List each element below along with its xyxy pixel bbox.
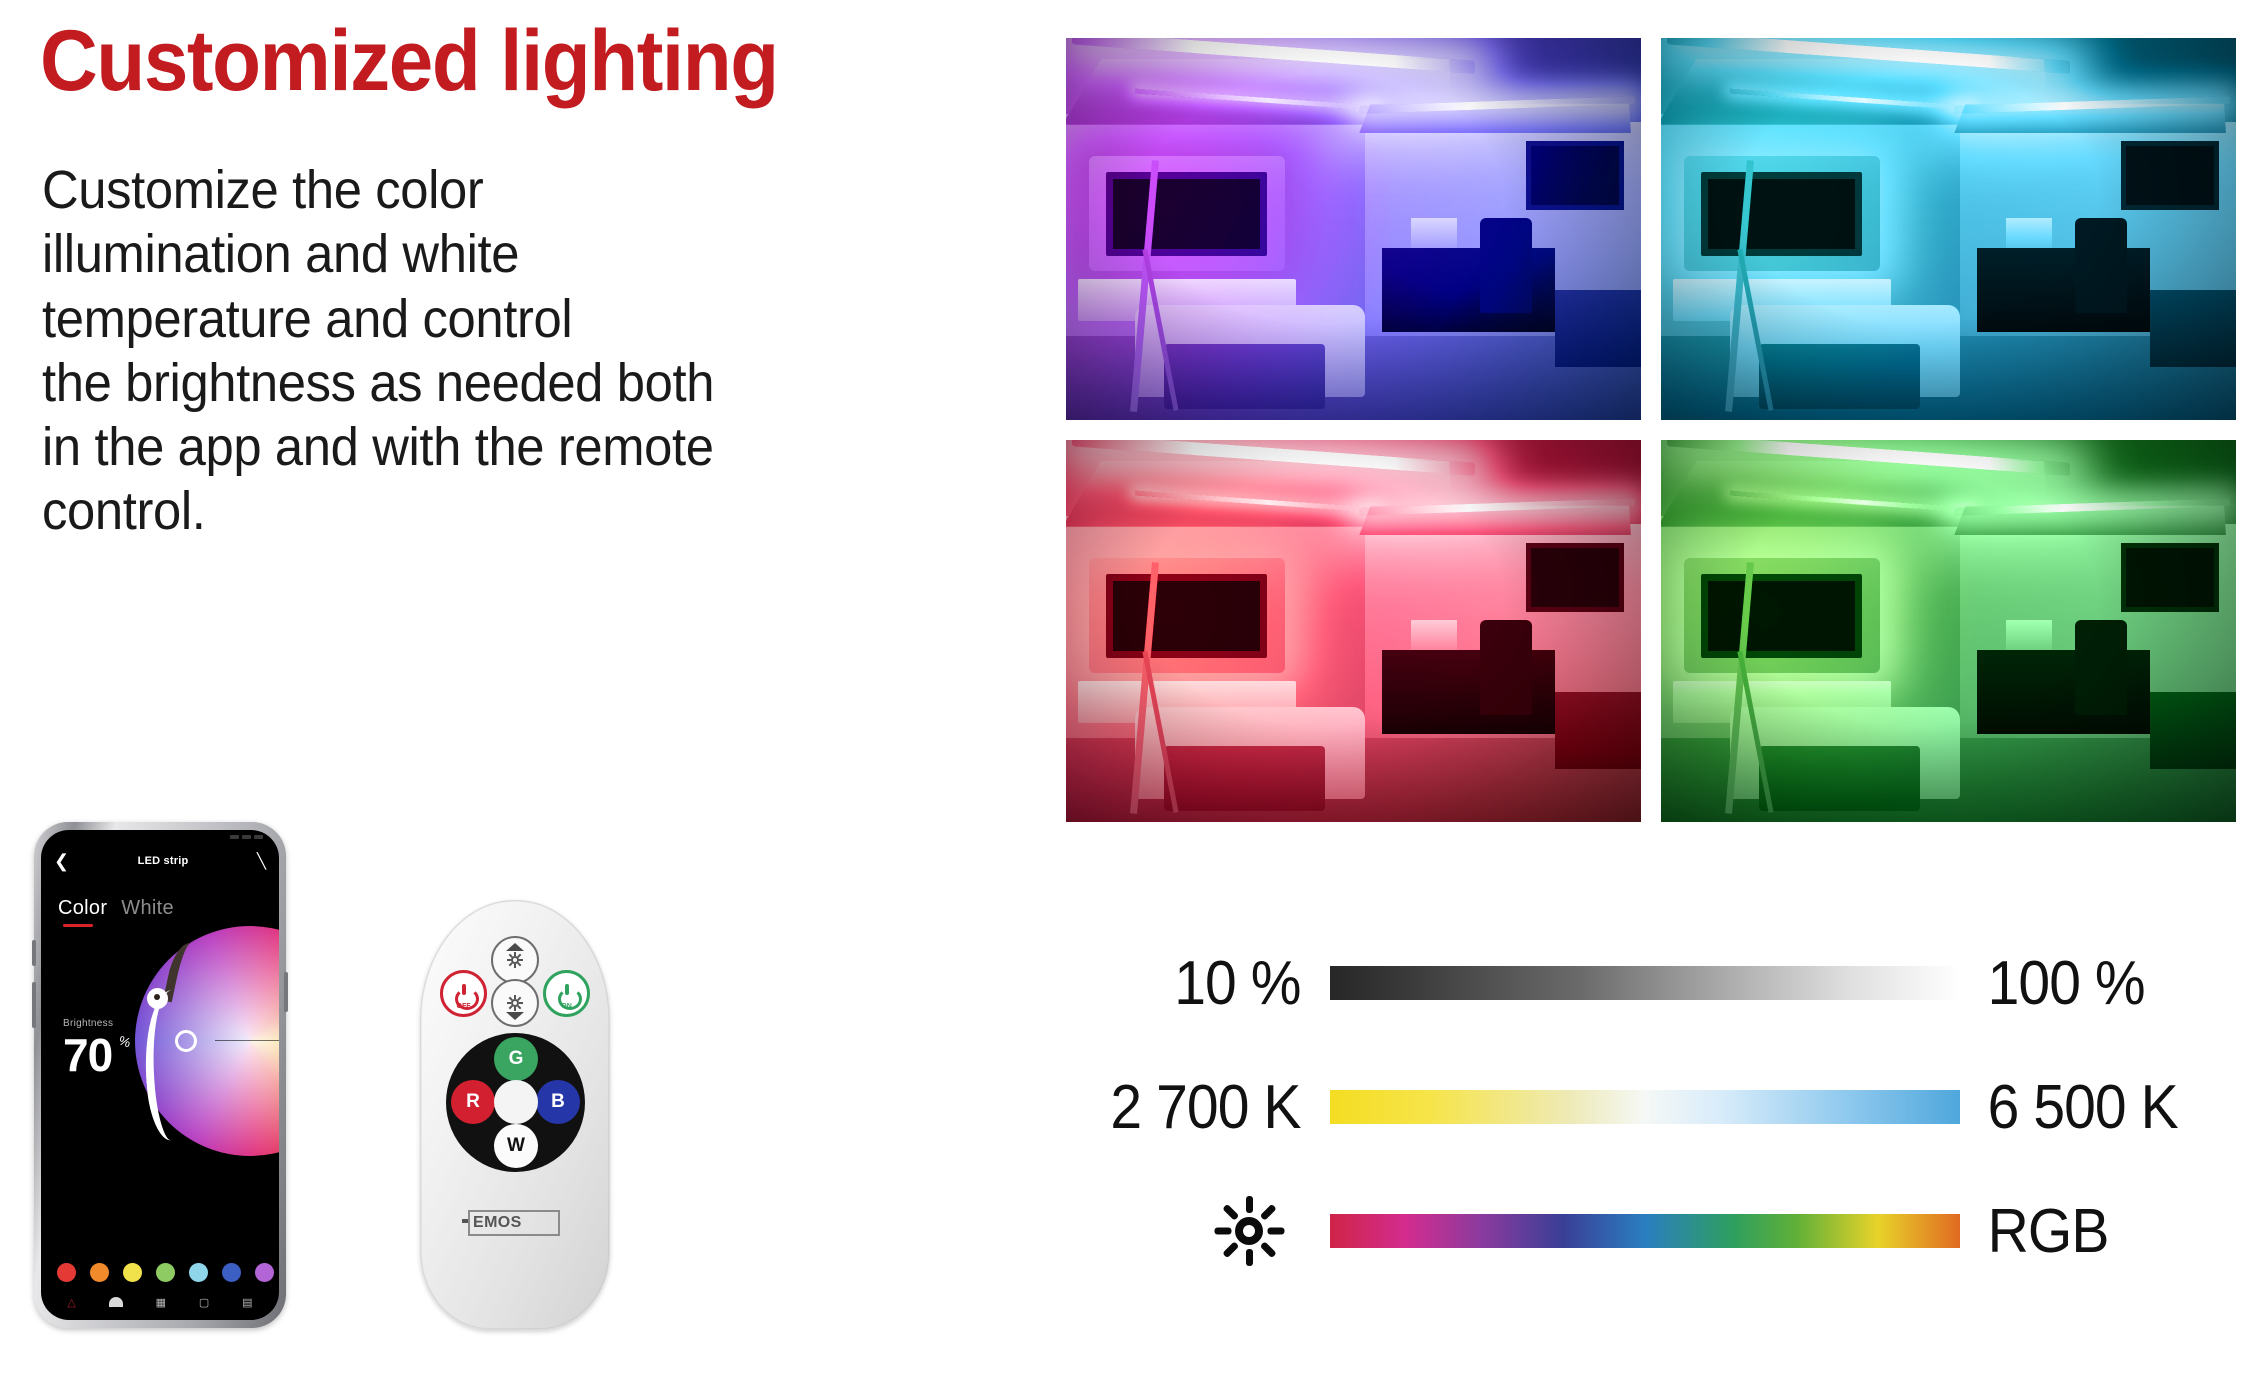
rgb-button-pad: G R B W [446, 1033, 585, 1172]
scenes-icon[interactable]: △ [67, 1296, 75, 1309]
devices-icon[interactable]: ▦ [156, 1296, 166, 1309]
poster-page: Customized lighting Customize the color … [0, 0, 2268, 1379]
color-preset-swatches [57, 1263, 274, 1282]
power-on-button[interactable]: ON [543, 970, 590, 1017]
power-icon [556, 983, 578, 1005]
phone-mockup: ❮ LED strip ╱ Color White Brightness 70 … [34, 822, 286, 1328]
brightness-up-button[interactable] [491, 936, 539, 984]
brightness-gradient-bar [1330, 966, 1960, 1000]
rgb-label: RGB [1960, 1196, 2227, 1267]
rgb-scale-row: RGB [1060, 1203, 2250, 1259]
chevron-left-icon[interactable]: ❮ [54, 852, 69, 870]
body-line: temperature and control [42, 287, 681, 351]
power-on-label: ON [546, 1003, 587, 1010]
brightness-sun-icon [1060, 1194, 1330, 1268]
app-title: LED strip [138, 855, 189, 867]
sun-icon [506, 994, 524, 1012]
brand-logo-text: EMOS [473, 1214, 522, 1232]
phone-mute-switch[interactable] [32, 940, 36, 966]
room-photo-red [1066, 440, 1641, 822]
body-line: in the app and with the remote [42, 415, 681, 479]
swatch-green[interactable] [156, 1263, 175, 1282]
body-copy: Customize the color illumination and whi… [42, 158, 681, 544]
brightness-min-label: 10 % [1082, 948, 1330, 1019]
cct-gradient-bar [1330, 1090, 1960, 1124]
mode-tabs: Color White [58, 897, 174, 927]
phone-notch [112, 832, 208, 847]
more-icon[interactable]: ▤ [242, 1296, 252, 1309]
phone-power-button[interactable] [284, 972, 288, 1012]
power-off-label: OFF [443, 1003, 484, 1010]
chevron-down-icon [506, 1012, 524, 1020]
blue-button[interactable]: B [536, 1080, 580, 1124]
page-title: Customized lighting [40, 18, 778, 104]
room-photo-green [1661, 440, 2236, 822]
room-photo-cyan [1661, 38, 2236, 420]
room-photo-purple [1066, 38, 1641, 420]
center-button[interactable] [494, 1080, 538, 1124]
lighting-range-scales: 10 % 100 % 2 700 K 6 500 K RGB [1060, 955, 2250, 1305]
photo-grid [1066, 38, 2236, 822]
swatch-light-blue[interactable] [189, 1263, 208, 1282]
sun-icon [506, 951, 524, 969]
body-line: Customize the color [42, 158, 681, 222]
swatch-blue[interactable] [222, 1263, 241, 1282]
brightness-value: 70 [63, 1028, 112, 1082]
swatch-yellow[interactable] [123, 1263, 142, 1282]
chevron-up-icon [506, 943, 524, 951]
bottom-nav-bar: △ ▦ ▢ ▤ [41, 1288, 279, 1316]
body-line: control. [42, 479, 681, 543]
white-button[interactable]: W [494, 1124, 538, 1168]
power-off-button[interactable]: OFF [440, 970, 487, 1017]
phone-volume-button[interactable] [32, 982, 36, 1028]
cct-max-label: 6 500 K [1960, 1072, 2227, 1143]
rgb-gradient-bar [1330, 1214, 1960, 1248]
swatch-purple[interactable] [255, 1263, 274, 1282]
color-wheel-guide [215, 1040, 279, 1041]
home-icon[interactable] [109, 1297, 123, 1307]
power-icon [453, 983, 475, 1005]
brightness-down-button[interactable] [491, 979, 539, 1027]
body-line: the brightness as needed both [42, 351, 681, 415]
swatch-red[interactable] [57, 1263, 76, 1282]
brightness-scale-row: 10 % 100 % [1060, 955, 2250, 1011]
color-temperature-scale-row: 2 700 K 6 500 K [1060, 1079, 2250, 1135]
cct-min-label: 2 700 K [1082, 1072, 1330, 1143]
brightness-arc-knob[interactable] [147, 988, 168, 1009]
body-line: illumination and white [42, 222, 681, 286]
brightness-unit: % [117, 1033, 133, 1051]
green-button[interactable]: G [494, 1037, 538, 1081]
tab-white[interactable]: White [121, 897, 174, 927]
red-button[interactable]: R [451, 1080, 495, 1124]
status-bar-icons [230, 835, 263, 839]
phone-screen: ❮ LED strip ╱ Color White Brightness 70 … [41, 830, 279, 1320]
swatch-orange[interactable] [90, 1263, 109, 1282]
brightness-max-label: 100 % [1960, 948, 2227, 1019]
edit-pencil-icon[interactable]: ╱ [257, 852, 266, 870]
app-top-bar: ❮ LED strip ╱ [41, 848, 279, 874]
remote-control: OFF ON G R B W EMOS [420, 900, 610, 1330]
tab-color[interactable]: Color [58, 897, 107, 927]
brand-logo: EMOS [468, 1210, 560, 1236]
room-icon[interactable]: ▢ [199, 1296, 209, 1309]
